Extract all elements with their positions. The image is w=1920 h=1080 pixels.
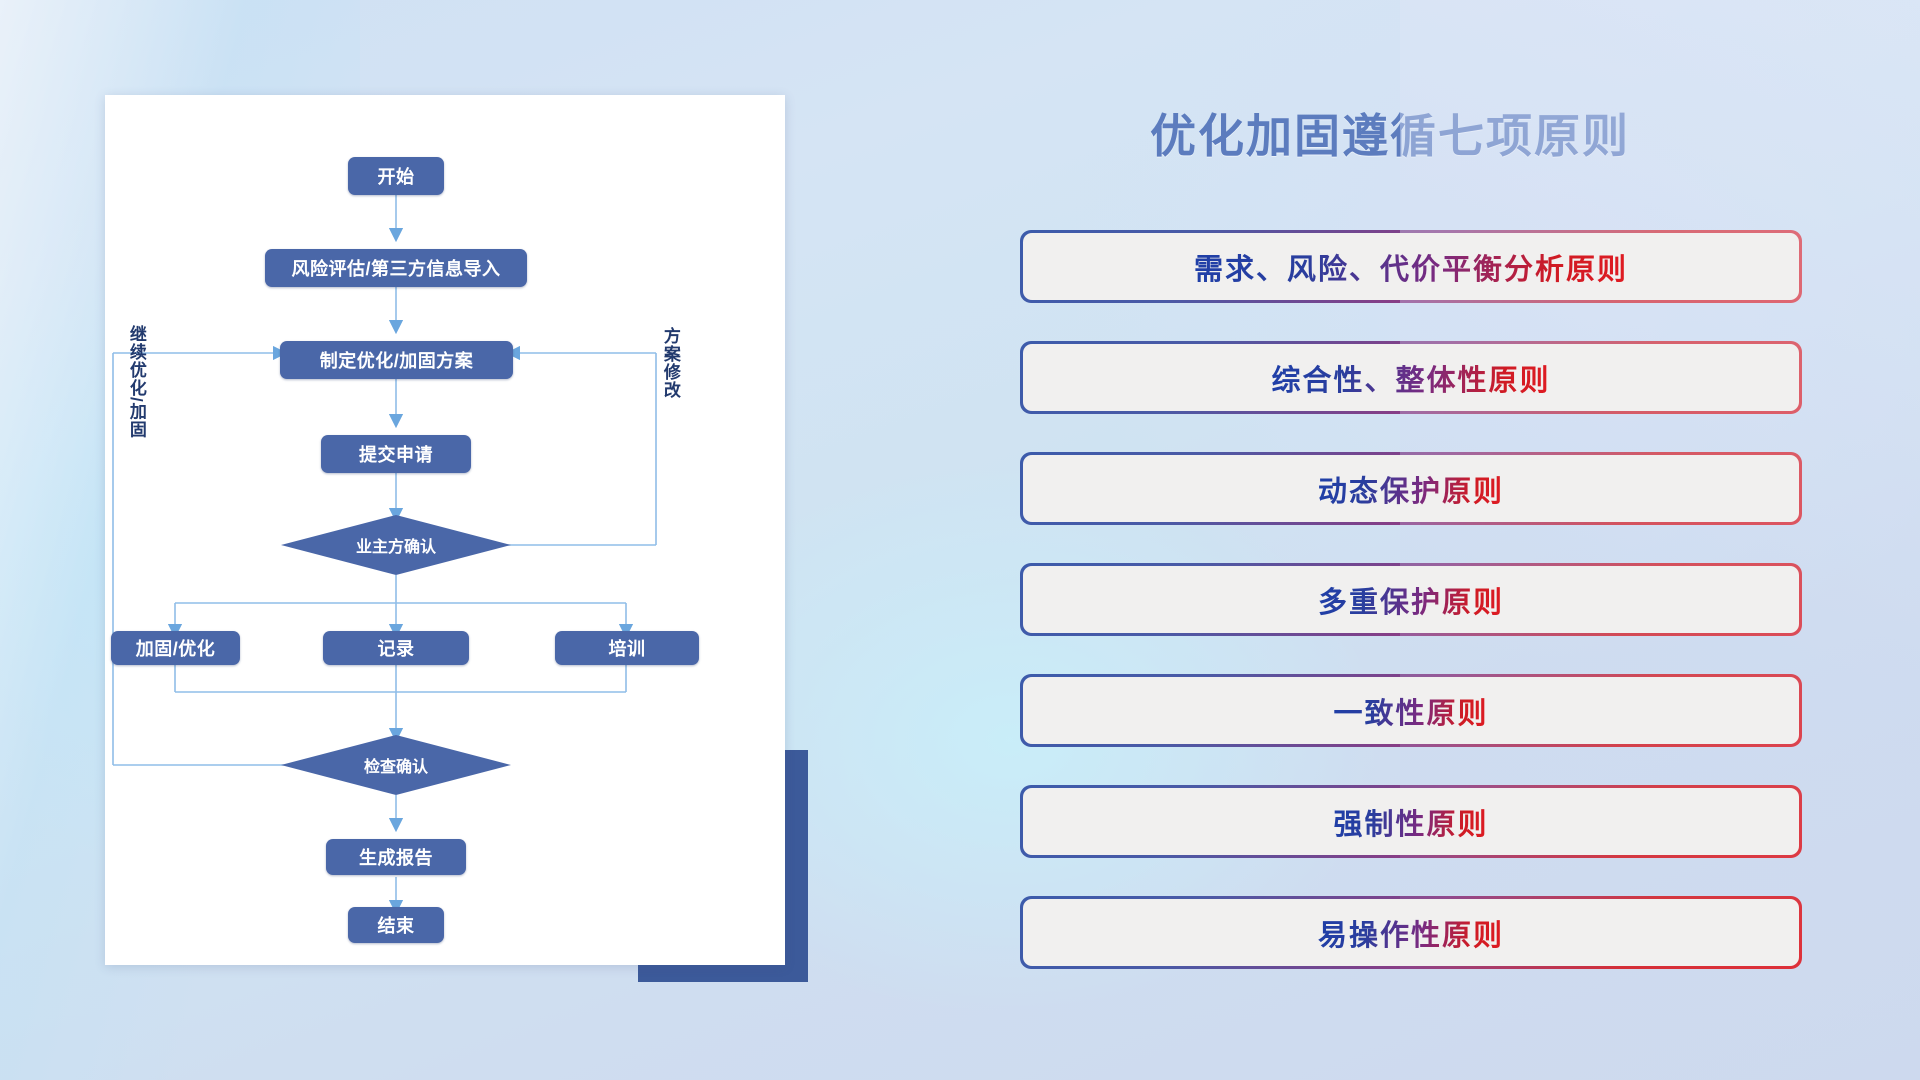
principle-card-4-inner: 多重保护原则 [1023,566,1799,633]
flow-node-generate-report[interactable]: 生成报告 [326,839,466,875]
flow-node-owner-confirm[interactable]: 业主方确认 [281,515,511,575]
principle-card-4[interactable]: 多重保护原则 [1022,565,1800,634]
edge-label-right: 方案修改 [661,327,679,447]
principle-card-2[interactable]: 综合性、整体性原则 [1022,343,1800,412]
principle-card-2-label: 综合性、整体性原则 [1271,357,1550,399]
flow-node-risk-assessment[interactable]: 风险评估/第三方信息导入 [265,249,527,287]
principle-card-5-inner: 一致性原则 [1023,677,1799,744]
slide-root: 继续优化/加固 方案修改 开始 风险评估/第三方信息导入 制定优化/加固方案 提… [0,0,1920,1080]
principle-card-3-label: 动态保护原则 [1318,468,1504,510]
principle-card-6-label: 强制性原则 [1333,801,1488,843]
flow-node-check-confirm-label: 检查确认 [364,753,428,777]
flow-node-check-confirm[interactable]: 检查确认 [281,735,511,795]
principle-card-3[interactable]: 动态保护原则 [1022,454,1800,523]
principle-card-7-inner: 易操作性原则 [1023,899,1799,966]
principle-card-1-inner: 需求、风险、代价平衡分析原则 [1023,233,1799,300]
principle-card-6[interactable]: 强制性原则 [1022,787,1800,856]
principle-card-5[interactable]: 一致性原则 [1022,676,1800,745]
principle-card-7-label: 易操作性原则 [1318,912,1504,954]
principle-card-2-inner: 综合性、整体性原则 [1023,344,1799,411]
flow-node-make-plan[interactable]: 制定优化/加固方案 [280,341,513,379]
flow-node-owner-confirm-label: 业主方确认 [356,533,436,557]
edge-label-left: 继续优化/加固 [127,325,145,495]
principle-card-3-inner: 动态保护原则 [1023,455,1799,522]
principle-card-1-label: 需求、风险、代价平衡分析原则 [1194,246,1628,288]
flow-node-reinforce-optimize[interactable]: 加固/优化 [111,631,240,665]
principles-list: 需求、风险、代价平衡分析原则 综合性、整体性原则 动态保护原则 多重保护原则 一… [1022,232,1800,1009]
principle-card-4-label: 多重保护原则 [1318,579,1504,621]
flowchart-card: 继续优化/加固 方案修改 开始 风险评估/第三方信息导入 制定优化/加固方案 提… [105,95,785,965]
page-title: 优化加固遵循七项原则 [1020,100,1760,166]
flow-node-submit-application[interactable]: 提交申请 [321,435,471,473]
principle-card-6-inner: 强制性原则 [1023,788,1799,855]
principle-card-7[interactable]: 易操作性原则 [1022,898,1800,967]
principle-card-1[interactable]: 需求、风险、代价平衡分析原则 [1022,232,1800,301]
flow-node-start[interactable]: 开始 [348,157,444,195]
flow-node-end[interactable]: 结束 [348,907,444,943]
flow-node-record[interactable]: 记录 [323,631,469,665]
principle-card-5-label: 一致性原则 [1333,690,1488,732]
flow-node-training[interactable]: 培训 [555,631,699,665]
